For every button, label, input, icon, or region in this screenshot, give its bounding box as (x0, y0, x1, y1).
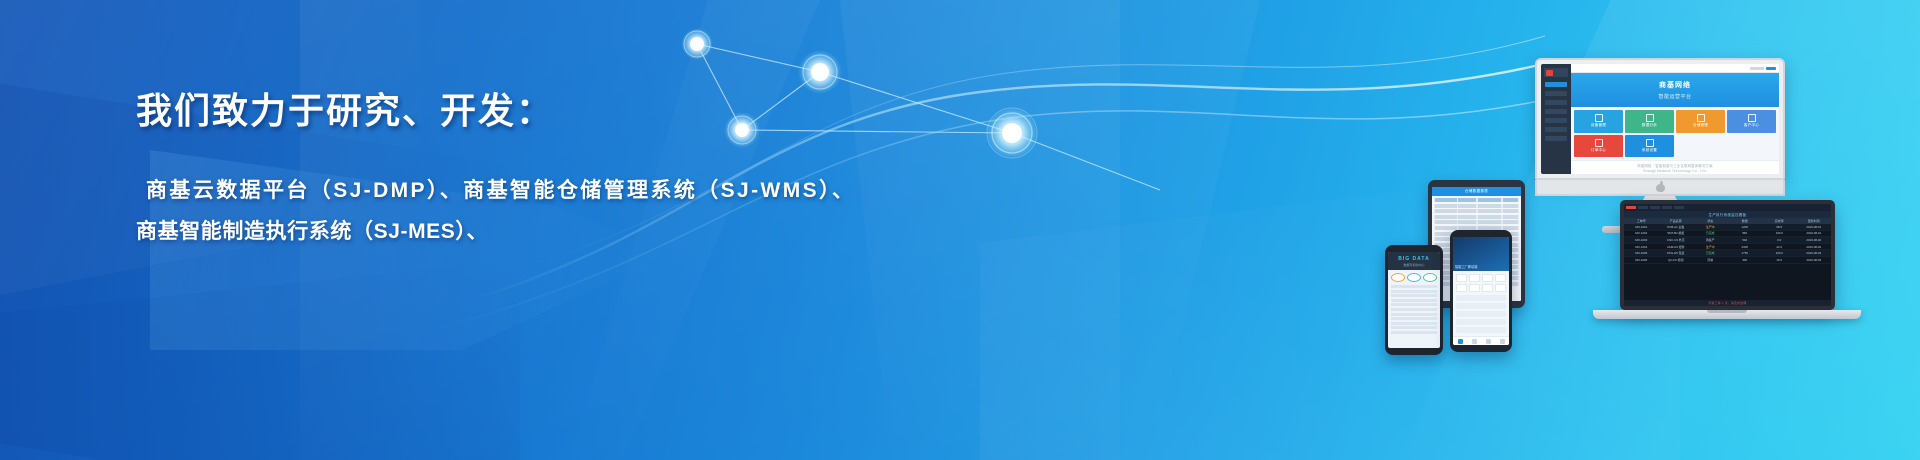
sidebar-item[interactable] (1545, 91, 1567, 96)
table-row (1434, 220, 1519, 224)
monitor-chin (1535, 180, 1785, 196)
banner-product-list: 商基云数据平台（SJ-DMP）、商基智能仓储管理系统（SJ-WMS）、 商基智能… (136, 171, 855, 253)
table-row: MO-1006 QC-F6 检测 异常 300 15.0 2019-08-03 (1624, 257, 1831, 264)
tablet-header: 仓储数据报表 (1432, 187, 1521, 196)
table-row: MO-1004 ASM-D4 组件 生产中 2300 42.0 2019-08-… (1624, 244, 1831, 251)
tile-label: 订单中心 (1591, 148, 1606, 153)
table-row: MO-1002 SMT-B2 模组 已完成 860 100.0 2019-08-… (1624, 231, 1831, 238)
box-icon (1697, 114, 1705, 122)
cell-status: 已完成 (1693, 231, 1728, 237)
list-item (1456, 311, 1506, 317)
cell: 1200 (1728, 224, 1763, 230)
list-item (1391, 322, 1437, 325)
list-item (1456, 319, 1506, 325)
phone-mockup-right: 智能工厂移动端 (1450, 230, 1512, 352)
cell: 68.5 (1762, 224, 1797, 230)
tile-label: 设备管理 (1591, 123, 1606, 128)
toolbar-button[interactable] (1626, 206, 1636, 209)
monitor-main: 商基网络 智能运营平台 设备管理 数据分析 (1571, 64, 1779, 174)
phone-left-subtitle: 数据可视化中心 (1403, 263, 1424, 267)
order-icon (1595, 139, 1603, 147)
table-row (1434, 215, 1519, 219)
list-item (1391, 299, 1437, 302)
cell: 1750 (1728, 250, 1763, 256)
cell: MO-1003 (1624, 237, 1659, 243)
table-row (1434, 209, 1519, 213)
app-icon[interactable] (1482, 284, 1493, 292)
cell: MO-1006 (1624, 257, 1659, 263)
cell: 42.0 (1762, 244, 1797, 250)
tablet-header-label: 仓储数据报表 (1465, 189, 1488, 194)
gear-icon (1646, 139, 1654, 147)
list-item (1391, 294, 1437, 297)
toolbar-button[interactable] (1662, 206, 1672, 209)
monitor-tile[interactable]: 系统设置 (1625, 135, 1674, 158)
user-badge[interactable] (1766, 67, 1776, 70)
table-row: MO-1003 CNC-C3 外壳 待投产 540 0.0 2019-08-02 (1624, 237, 1831, 244)
cell: 2019-08-02 (1797, 244, 1832, 250)
laptop-mockup: 生产执行系统监控看板 工单号 产品名称 状态 数量 完成率 更新时间 MO-10… (1620, 200, 1835, 319)
app-icon[interactable] (1456, 274, 1467, 282)
phone-left-list (1388, 285, 1440, 348)
phone-mockup-left: BIG DATA 数据可视化中心 (1385, 245, 1443, 355)
cell: 2019-08-03 (1797, 257, 1832, 263)
laptop-toolbar (1624, 204, 1831, 211)
hero-banner: 我们致力于研究、开发： 商基云数据平台（SJ-DMP）、商基智能仓储管理系统（S… (0, 0, 1920, 460)
sidebar-item[interactable] (1545, 127, 1567, 132)
search-icon[interactable] (1750, 67, 1764, 70)
phone-right-tabbar (1453, 336, 1509, 345)
cell: 860 (1728, 231, 1763, 237)
list-item (1391, 290, 1437, 293)
table-row: MO-1001 PCB-A1 主板 生产中 1200 68.5 2019-08-… (1624, 224, 1831, 231)
device-mockup-cluster: 商基网络 智能运营平台 设备管理 数据分析 (1380, 0, 1920, 460)
monitor-topbar (1571, 64, 1779, 73)
cell: MO-1002 (1624, 231, 1659, 237)
tile-label: 客户中心 (1744, 123, 1759, 128)
cell: CNC-C3 外壳 (1659, 237, 1694, 243)
phone-left-header: BIG DATA 数据可视化中心 (1388, 252, 1440, 270)
toolbar-button[interactable] (1674, 206, 1684, 209)
laptop-table-body: MO-1001 PCB-A1 主板 生产中 1200 68.5 2019-08-… (1624, 224, 1831, 300)
sidebar-item[interactable] (1545, 136, 1567, 141)
app-icon[interactable] (1469, 284, 1480, 292)
phone-left-icon-grid (1388, 270, 1440, 285)
list-item (1391, 317, 1437, 320)
tab-home-icon[interactable] (1458, 339, 1463, 344)
cell: 2300 (1728, 244, 1763, 250)
cell: 2019-08-03 (1797, 250, 1832, 256)
cell: QC-F6 检测 (1659, 257, 1694, 263)
toolbar-button[interactable] (1650, 206, 1660, 209)
bg-shard (840, 0, 1260, 460)
app-icon[interactable] (1482, 274, 1493, 282)
monitor-tile-grid: 设备管理 数据分析 仓储管理 (1571, 107, 1779, 160)
app-icon[interactable] (1495, 274, 1506, 282)
cell-status: 已完成 (1693, 250, 1728, 256)
banner-copy: 我们致力于研究、开发： 商基云数据平台（SJ-DMP）、商基智能仓储管理系统（S… (136, 88, 855, 253)
cell: 15.0 (1762, 257, 1797, 263)
phone-right-caption: 智能工厂移动端 (1455, 264, 1477, 269)
cell: PKG-E5 包装 (1659, 250, 1694, 256)
monitor-screen: 商基网络 智能运营平台 设备管理 数据分析 (1541, 64, 1779, 174)
laptop-screen: 生产执行系统监控看板 工单号 产品名称 状态 数量 完成率 更新时间 MO-10… (1624, 204, 1831, 306)
list-item (1456, 303, 1506, 309)
cell-status: 待投产 (1693, 237, 1728, 243)
cell: 100.0 (1762, 250, 1797, 256)
footer-line-2: Shangji Network Technology Co., Ltd. (1643, 169, 1707, 173)
toolbar-button[interactable] (1638, 206, 1648, 209)
banner-line-2: 商基智能制造执行系统（SJ-MES）、 (136, 212, 855, 253)
laptop-notch (1707, 310, 1747, 313)
sidebar-item[interactable] (1545, 109, 1567, 114)
tile-label: 数据分析 (1642, 123, 1657, 128)
list-item (1456, 295, 1506, 301)
laptop-base (1593, 310, 1861, 319)
status-message: 异常工单 1 条，请及时处理 (1708, 301, 1746, 305)
cell: ASM-D4 组件 (1659, 244, 1694, 250)
cell: MO-1004 (1624, 244, 1659, 250)
tab-messages-icon[interactable] (1486, 339, 1491, 344)
monitor-bezel: 商基网络 智能运营平台 设备管理 数据分析 (1535, 58, 1785, 180)
list-item (1391, 326, 1437, 329)
cell-status: 生产中 (1693, 244, 1728, 250)
monitor-tile[interactable]: 仓储管理 (1676, 110, 1725, 133)
monitor-icon (1595, 114, 1603, 122)
phone-right-icon-grid (1453, 271, 1509, 295)
sidebar-item[interactable] (1545, 100, 1567, 105)
list-item (1391, 308, 1437, 311)
cell: 540 (1728, 237, 1763, 243)
phone-left-title: BIG DATA (1398, 256, 1429, 262)
cell: 300 (1728, 257, 1763, 263)
monitor-tile[interactable]: 订单中心 (1574, 135, 1623, 158)
list-item (1391, 313, 1437, 316)
table-row: MO-1005 PKG-E5 包装 已完成 1750 100.0 2019-08… (1624, 250, 1831, 257)
list-item (1391, 303, 1437, 306)
app-icon[interactable] (1469, 274, 1480, 282)
table-row (1434, 198, 1519, 202)
tab-profile-icon[interactable] (1500, 339, 1505, 344)
cell: 100.0 (1762, 231, 1797, 237)
footer-line-1: 商基网络 · 智能制造与工业互联网整体解决方案 (1637, 163, 1712, 168)
phone-right-hero: 智能工厂移动端 (1453, 237, 1509, 271)
app-icon[interactable] (1407, 273, 1421, 282)
cell: MO-1005 (1624, 250, 1659, 256)
cell: PCB-A1 主板 (1659, 224, 1694, 230)
app-icon[interactable] (1456, 284, 1467, 292)
phone-right-screen: 智能工厂移动端 (1453, 237, 1509, 345)
table-row (1434, 204, 1519, 208)
banner-line-1: 商基云数据平台（SJ-DMP）、商基智能仓储管理系统（SJ-WMS）、 (136, 171, 855, 212)
app-icon[interactable] (1423, 273, 1437, 282)
monitor-tile[interactable]: 数据分析 (1625, 110, 1674, 133)
monitor-hero-subtitle: 智能运营平台 (1658, 93, 1691, 100)
apple-logo-icon (1656, 182, 1665, 192)
cell: 2019-08-01 (1797, 231, 1832, 237)
monitor-sidebar (1541, 64, 1571, 174)
tile-label: 仓储管理 (1693, 123, 1708, 128)
monitor-footer: 商基网络 · 智能制造与工业互联网整体解决方案 Shangji Network … (1571, 160, 1779, 174)
monitor-tile[interactable]: 客户中心 (1727, 110, 1776, 133)
cell-status: 生产中 (1693, 224, 1728, 230)
cell-status: 异常 (1693, 257, 1728, 263)
cell: SMT-B2 模组 (1659, 231, 1694, 237)
phone-left-screen: BIG DATA 数据可视化中心 (1388, 252, 1440, 348)
sidebar-item[interactable] (1545, 82, 1567, 87)
cell: 2019-08-02 (1797, 237, 1832, 243)
cell: 2019-08-01 (1797, 224, 1832, 230)
list-item (1456, 327, 1506, 333)
app-icon[interactable] (1391, 273, 1405, 282)
laptop-status-bar: 异常工单 1 条，请及时处理 (1624, 300, 1831, 306)
monitor-hero-title: 商基网络 (1659, 80, 1691, 90)
sidebar-item[interactable] (1545, 118, 1567, 123)
cell: 0.0 (1762, 237, 1797, 243)
monitor-tile[interactable]: 设备管理 (1574, 110, 1623, 133)
monitor-hero: 商基网络 智能运营平台 (1571, 73, 1779, 107)
user-icon (1748, 114, 1756, 122)
app-icon[interactable] (1495, 284, 1506, 292)
brand-logo (1544, 68, 1568, 77)
chart-icon (1646, 114, 1654, 122)
bg-shard (0, 260, 520, 460)
banner-headline: 我们致力于研究、开发： (136, 88, 855, 135)
tile-label: 系统设置 (1642, 148, 1657, 153)
laptop-title: 生产执行系统监控看板 (1709, 212, 1747, 217)
tab-orders-icon[interactable] (1472, 339, 1477, 344)
cell: MO-1001 (1624, 224, 1659, 230)
list-item (1391, 331, 1437, 334)
list-item (1391, 285, 1437, 288)
phone-right-list (1453, 295, 1509, 336)
laptop-title-bar: 生产执行系统监控看板 (1624, 211, 1831, 218)
laptop-lid: 生产执行系统监控看板 工单号 产品名称 状态 数量 完成率 更新时间 MO-10… (1620, 200, 1835, 310)
